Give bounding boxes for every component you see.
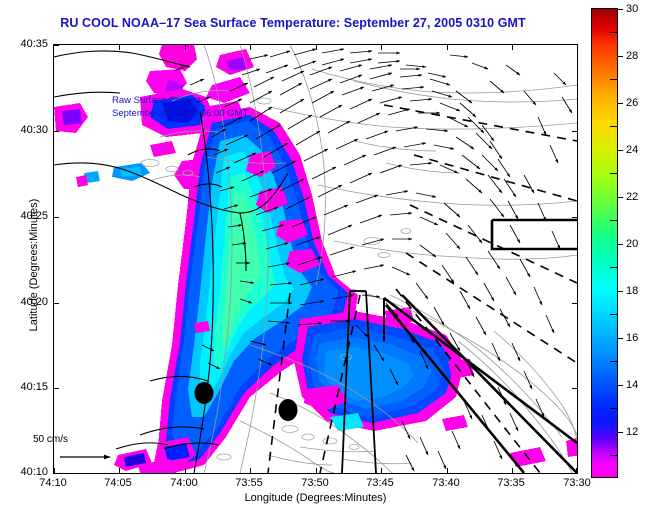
colorbar-minor-tick <box>610 126 617 127</box>
y-tick <box>54 217 59 218</box>
colorbar-label: 26 <box>626 97 638 109</box>
x-tick <box>185 468 186 473</box>
x-tick-label: 73:50 <box>301 477 329 489</box>
y-tick-label: 40:10 <box>20 466 48 478</box>
x-tick-top <box>119 45 120 50</box>
x-tick <box>447 468 448 473</box>
colorbar-tick <box>618 432 623 433</box>
y-axis-title: Latitude (Degrees:Minutes) <box>28 145 40 385</box>
x-tick <box>381 468 382 473</box>
colorbar-minor-tick <box>610 361 617 362</box>
x-tick-top <box>512 45 513 50</box>
colorbar-label: 30 <box>626 3 638 15</box>
colorbar-tick <box>618 9 623 10</box>
x-tick-label: 74:05 <box>104 477 132 489</box>
colorbar-label: 14 <box>626 379 638 391</box>
colorbar-tick <box>618 150 623 151</box>
x-tick-top <box>250 45 251 50</box>
colorbar-tick <box>618 291 623 292</box>
colorbar-tick <box>618 385 623 386</box>
x-tick <box>576 468 577 473</box>
station-marker-1 <box>195 382 214 404</box>
x-tick <box>512 468 513 473</box>
y-tick <box>54 303 59 304</box>
y-tick-right <box>572 131 577 132</box>
x-tick-label: 74:10 <box>39 477 67 489</box>
x-tick-top <box>381 45 382 50</box>
x-tick-top <box>447 45 448 50</box>
x-tick-top <box>316 45 317 50</box>
colorbar-minor-tick <box>610 220 617 221</box>
colorbar-tick <box>618 56 623 57</box>
colorbar-minor-tick <box>610 408 617 409</box>
y-tick-label: 40:30 <box>20 124 48 136</box>
colorbar-label: 22 <box>626 191 638 203</box>
colorbar-minor-tick <box>610 455 617 456</box>
x-tick-label: 73:30 <box>563 477 591 489</box>
y-tick-right <box>572 217 577 218</box>
colorbar-tick <box>618 338 623 339</box>
scale-arrow-label: 50 cm/s <box>33 434 68 445</box>
y-tick-right <box>572 303 577 304</box>
x-tick-label: 73:35 <box>497 477 525 489</box>
x-tick-label: 73:45 <box>366 477 394 489</box>
x-tick-label: 73:55 <box>235 477 263 489</box>
colorbar-label: 16 <box>626 332 638 344</box>
colorbar-label: 28 <box>626 50 638 62</box>
colorbar-tick <box>618 103 623 104</box>
figure-title: RU COOL NOAA–17 Sea Surface Temperature:… <box>0 16 586 30</box>
y-tick <box>54 45 59 46</box>
sst-map-canvas <box>54 45 577 473</box>
x-tick-top <box>185 45 186 50</box>
colorbar-label: 12 <box>626 426 638 438</box>
colorbar-minor-tick <box>610 267 617 268</box>
y-tick-right <box>572 388 577 389</box>
y-tick <box>54 388 59 389</box>
colorbar-minor-tick <box>610 314 617 315</box>
x-tick <box>119 468 120 473</box>
map-axes[interactable]: Raw Surface Current: September 27, 2005 … <box>53 44 578 474</box>
x-tick-label: 73:40 <box>432 477 460 489</box>
x-tick <box>316 468 317 473</box>
y-tick <box>54 473 59 474</box>
x-axis-title: Longitude (Degrees:Minutes) <box>53 492 578 504</box>
colorbar-tick <box>618 197 623 198</box>
x-tick-label: 74:00 <box>170 477 198 489</box>
colorbar-minor-tick <box>610 173 617 174</box>
sst-figure: RU COOL NOAA–17 Sea Surface Temperature:… <box>0 0 651 518</box>
colorbar-label: 18 <box>626 285 638 297</box>
colorbar-minor-tick <box>610 32 617 33</box>
x-tick <box>250 468 251 473</box>
colorbar-label: 24 <box>626 144 638 156</box>
y-tick <box>54 131 59 132</box>
station-marker-2 <box>279 399 298 421</box>
colorbar-tick <box>618 244 623 245</box>
colorbar-minor-tick <box>610 79 617 80</box>
colorbar-label: 20 <box>626 238 638 250</box>
y-tick-label: 40:35 <box>20 38 48 50</box>
